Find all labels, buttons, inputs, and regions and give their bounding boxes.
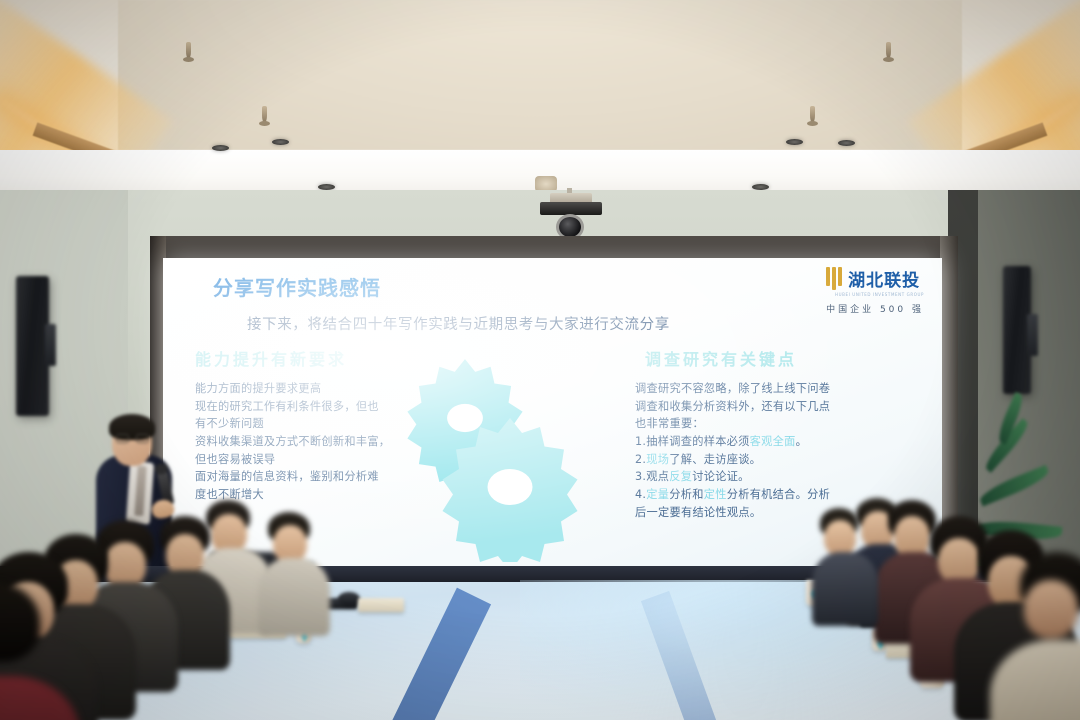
recessed-downlight-icon: [212, 145, 229, 151]
ceiling-center-panel: [118, 0, 962, 150]
body-line: 1.抽样调查的样本必须客观全面。: [635, 433, 925, 451]
body-line: 但也容易被误导: [195, 451, 485, 469]
body-line: 有不少新问题: [195, 415, 485, 433]
logo-name: 湖北联投: [848, 266, 920, 291]
sprinkler-head-icon: [262, 106, 267, 122]
column-left-body: 能力方面的提升要求更高 现在的研究工作有利条件很多，但也 有不少新问题 资料收集…: [195, 380, 485, 504]
slide-subtitle: 接下来，将结合四十年写作实践与近期思考与大家进行交流分享: [247, 313, 920, 334]
sprinkler-head-icon: [886, 42, 891, 58]
recessed-downlight-icon: [786, 139, 803, 145]
company-logo: 湖北联投 HUBEI UNITED INVESTMENT GROUP 中国企业 …: [826, 266, 924, 315]
logo-tagline: 中国企业 500 强: [826, 302, 924, 315]
wall-column-speaker-right: [1003, 266, 1031, 394]
column-left-heading: 能力提升有新要求: [195, 346, 485, 370]
slide-column-right: 调查研究有关键点 调查研究不容忽略，除了线上线下问卷 调查和收集分析资料外，还有…: [635, 346, 925, 522]
slide-title: 分享写作实践感悟: [213, 272, 920, 301]
body-line: 资料收集渠道及方式不断创新和丰富，: [195, 433, 485, 451]
shield-mark-icon: [826, 267, 842, 290]
logo-pinyin: HUBEI UNITED INVESTMENT GROUP: [826, 292, 924, 297]
body-line: 调查和收集分析资料外，还有以下几点: [635, 398, 925, 416]
glasses-icon: [116, 434, 149, 443]
sprinkler-head-icon: [810, 106, 815, 122]
body-line: 调查研究不容忽略，除了线上线下问卷: [635, 380, 925, 398]
body-line: 3.观点反复讨论论证。: [635, 468, 925, 486]
body-line: 2.现场了解、走访座谈。: [635, 451, 925, 469]
logo-row: 湖北联投: [826, 266, 924, 291]
smartphone: [338, 592, 360, 606]
column-right-heading: 调查研究有关键点: [645, 346, 925, 370]
body-line: 面对海量的信息资料，鉴别和分析难: [195, 468, 485, 486]
wall-column-speaker-left: [16, 276, 49, 416]
recessed-downlight-icon: [272, 139, 289, 145]
body-line: 也非常重要：: [635, 415, 925, 433]
conference-room-scene: 分享写作实践感悟 接下来，将结合四十年写作实践与近期思考与大家进行交流分享 湖北…: [0, 0, 1080, 720]
notebook: [358, 598, 404, 612]
sprinkler-head-icon: [186, 42, 191, 58]
slide-column-left: 能力提升有新要求 能力方面的提升要求更高 现在的研究工作有利条件很多，但也 有不…: [195, 346, 485, 504]
recessed-downlight-icon: [838, 140, 855, 146]
body-line: 现在的研究工作有利条件很多，但也: [195, 398, 485, 416]
body-line: 能力方面的提升要求更高: [195, 380, 485, 398]
